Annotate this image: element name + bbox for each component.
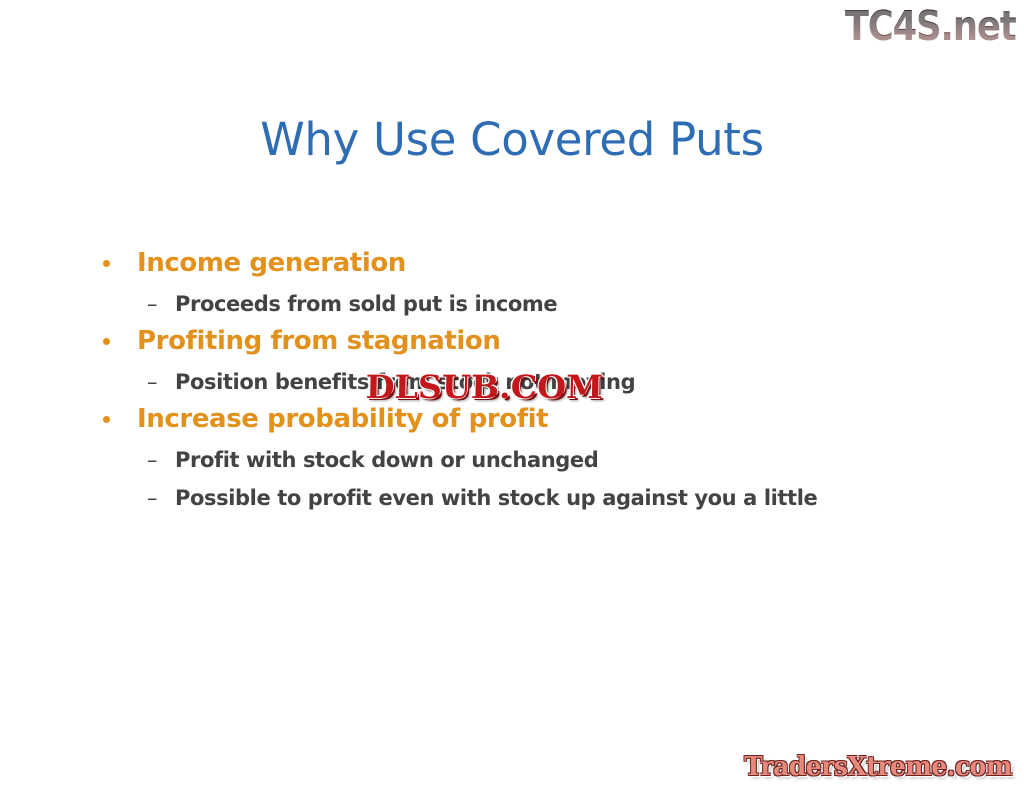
bullet-dot-icon [103, 260, 110, 267]
bullet-heading: Income generation [96, 246, 964, 280]
bullet-heading: Profiting from stagnation [96, 324, 964, 358]
dlsub-watermark: DLSUB.COM [365, 368, 603, 406]
slide-canvas: TC4S.net Why Use Covered Puts Income gen… [0, 0, 1024, 791]
bullet-group: Increase probability of profit – Profit … [96, 402, 964, 512]
bullet-dot-icon [103, 416, 110, 423]
sub-bullet-label: Profit with stock down or unchanged [175, 448, 598, 472]
dash-marker-icon: – [147, 368, 157, 396]
sub-bullet: – Possible to profit even with stock up … [96, 484, 964, 512]
sub-bullet: – Proceeds from sold put is income [96, 290, 964, 318]
bullet-heading-label: Income generation [137, 248, 406, 278]
tradersxtreme-logo: TradersXtreme.com [744, 751, 1012, 783]
sub-bullet-label: Possible to profit even with stock up ag… [175, 486, 817, 510]
dash-marker-icon: – [147, 484, 157, 512]
bullet-heading: Increase probability of profit [96, 402, 964, 436]
bullet-group: Income generation – Proceeds from sold p… [96, 246, 964, 318]
page-title: Why Use Covered Puts [0, 112, 1024, 168]
tc4s-logo: TC4S.net [845, 2, 1016, 50]
bullet-heading-label: Profiting from stagnation [137, 326, 500, 356]
dash-marker-icon: – [147, 446, 157, 474]
dash-marker-icon: – [147, 290, 157, 318]
sub-bullet: – Profit with stock down or unchanged [96, 446, 964, 474]
sub-bullet-label: Proceeds from sold put is income [175, 292, 557, 316]
bullet-heading-label: Increase probability of profit [137, 404, 548, 434]
bullet-dot-icon [103, 338, 110, 345]
